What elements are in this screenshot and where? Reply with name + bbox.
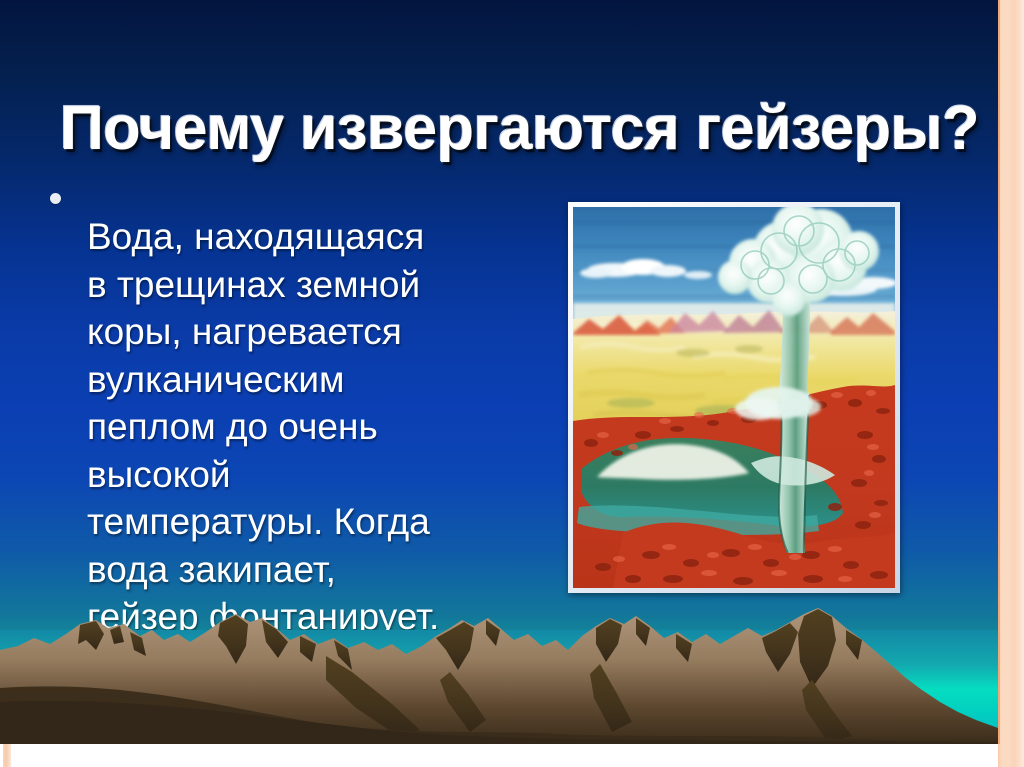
guide-strip-left [3, 744, 11, 767]
geyser-cross-section-diagram [573, 207, 895, 588]
guide-line-right [998, 0, 1000, 744]
mountain-silhouette-band [0, 584, 998, 744]
page-canvas: Почему извергаются гейзеры? Вода, находя… [0, 0, 1024, 767]
guide-strip-right [998, 0, 1024, 767]
presentation-slide: Почему извергаются гейзеры? Вода, находя… [0, 0, 998, 744]
bullet-dot-icon [50, 193, 61, 204]
illustration-frame [568, 202, 900, 593]
bullet-text: Вода, находящаяся в трещинах земной коры… [87, 213, 520, 641]
slide-title: Почему извергаются гейзеры? [60, 94, 927, 164]
